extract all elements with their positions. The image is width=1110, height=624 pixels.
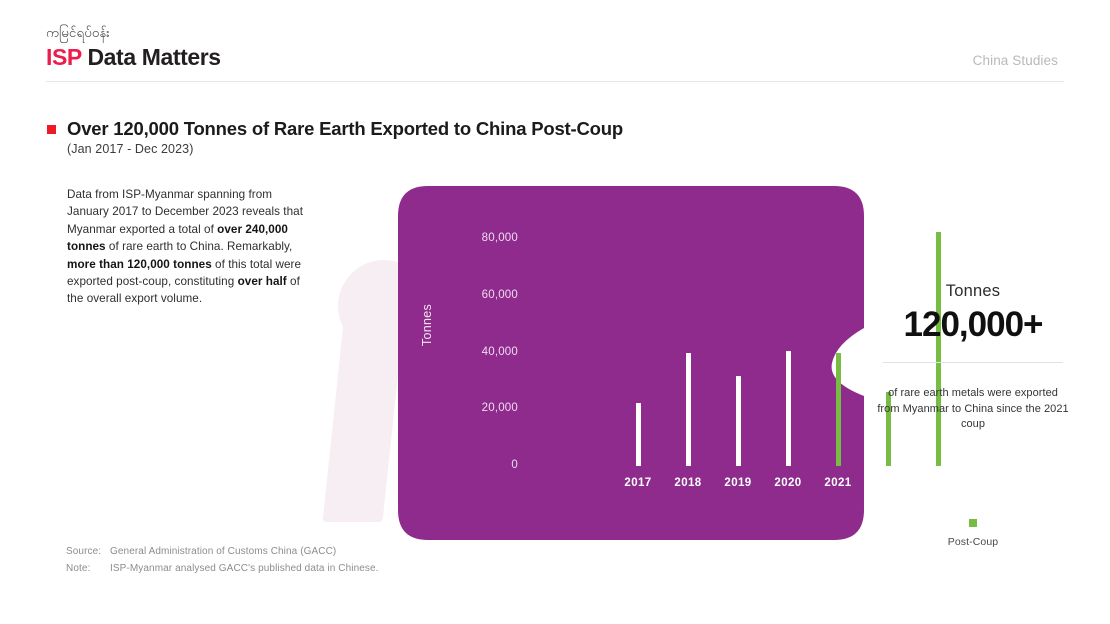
x-label-2020: 2020 [774, 477, 801, 489]
y-tick-60000: 60,000 [482, 289, 518, 301]
watermark-stem [322, 322, 403, 522]
footer-source-row: Source: General Administration of Custom… [66, 543, 379, 560]
stat-value: 120,000+ [880, 304, 1066, 346]
intro-bold-half: over half [238, 275, 287, 288]
footer-source-value: General Administration of Customs China … [110, 543, 336, 560]
y-tick-20000: 20,000 [482, 402, 518, 414]
footer-source-key: Source: [66, 543, 110, 560]
intro-part-2: of rare earth to China. Remarkably, [106, 240, 293, 253]
brand-isp-text: ISP [46, 44, 81, 70]
y-axis-title: Tonnes [420, 304, 440, 346]
stat-description: of rare earth metals were exported from … [876, 386, 1070, 433]
y-tick-0: 0 [511, 459, 518, 471]
page-title-text: Over 120,000 Tonnes of Rare Earth Export… [67, 117, 623, 141]
section-label: China Studies [973, 53, 1058, 68]
intro-paragraph: Data from ISP-Myanmar spanning from Janu… [67, 186, 307, 308]
bar-2017[interactable] [636, 403, 641, 466]
footer-note-value: ISP-Myanmar analysed GACC's published da… [110, 560, 379, 577]
chart-legend: Post-Coup [880, 514, 1066, 548]
page-title: Over 120,000 Tonnes of Rare Earth Export… [47, 117, 623, 141]
x-label-2017: 2017 [624, 477, 651, 489]
bar-2021[interactable] [836, 353, 841, 466]
x-label-2019: 2019 [724, 477, 751, 489]
y-axis-ticks: 0 20,000 40,000 60,000 80,000 [443, 186, 518, 540]
bar-2020[interactable] [786, 351, 791, 466]
plot-area: 2017 2018 2019 2020 2021 2022 2023 [523, 186, 853, 540]
title-bullet-icon [47, 125, 56, 134]
brand-datamatters-text: Data Matters [81, 44, 220, 70]
header-divider [46, 81, 1064, 82]
brand-wordmark: ISP Data Matters [46, 44, 221, 70]
chart-panel: Tonnes 0 20,000 40,000 60,000 80,000 201… [398, 186, 864, 540]
bar-2018[interactable] [686, 353, 691, 466]
footer-note-key: Note: [66, 560, 110, 577]
y-tick-40000: 40,000 [482, 346, 518, 358]
x-label-2023: 2023 [924, 477, 951, 489]
brand-logo: ကမြင်ရပ်ဝန်း ISP Data Matters [46, 26, 221, 70]
y-tick-80000: 80,000 [482, 232, 518, 244]
intro-bold-postcoup: more than 120,000 tonnes [67, 258, 212, 271]
page-header: ကမြင်ရပ်ဝန်း ISP Data Matters China Stud… [0, 0, 1110, 82]
infographic-page: ကမြင်ရပ်ဝန်း ISP Data Matters China Stud… [0, 0, 1110, 624]
x-label-2022: 2022 [874, 477, 901, 489]
legend-label-post-coup: Post-Coup [880, 536, 1066, 548]
legend-swatch-post-coup-icon [969, 519, 977, 527]
x-label-2018: 2018 [674, 477, 701, 489]
stat-callout: Tonnes 120,000+ [880, 282, 1066, 346]
page-subtitle: (Jan 2017 - Dec 2023) [67, 142, 193, 156]
footer-notes: Source: General Administration of Custom… [66, 543, 379, 577]
bar-chart: Tonnes 0 20,000 40,000 60,000 80,000 201… [398, 186, 864, 540]
x-label-2021: 2021 [824, 477, 851, 489]
brand-burmese-text: ကမြင်ရပ်ဝန်း [46, 26, 221, 42]
footer-note-row: Note: ISP-Myanmar analysed GACC's publis… [66, 560, 379, 577]
bar-2019[interactable] [736, 376, 741, 466]
stat-unit-label: Tonnes [880, 282, 1066, 301]
stat-divider [883, 362, 1063, 363]
